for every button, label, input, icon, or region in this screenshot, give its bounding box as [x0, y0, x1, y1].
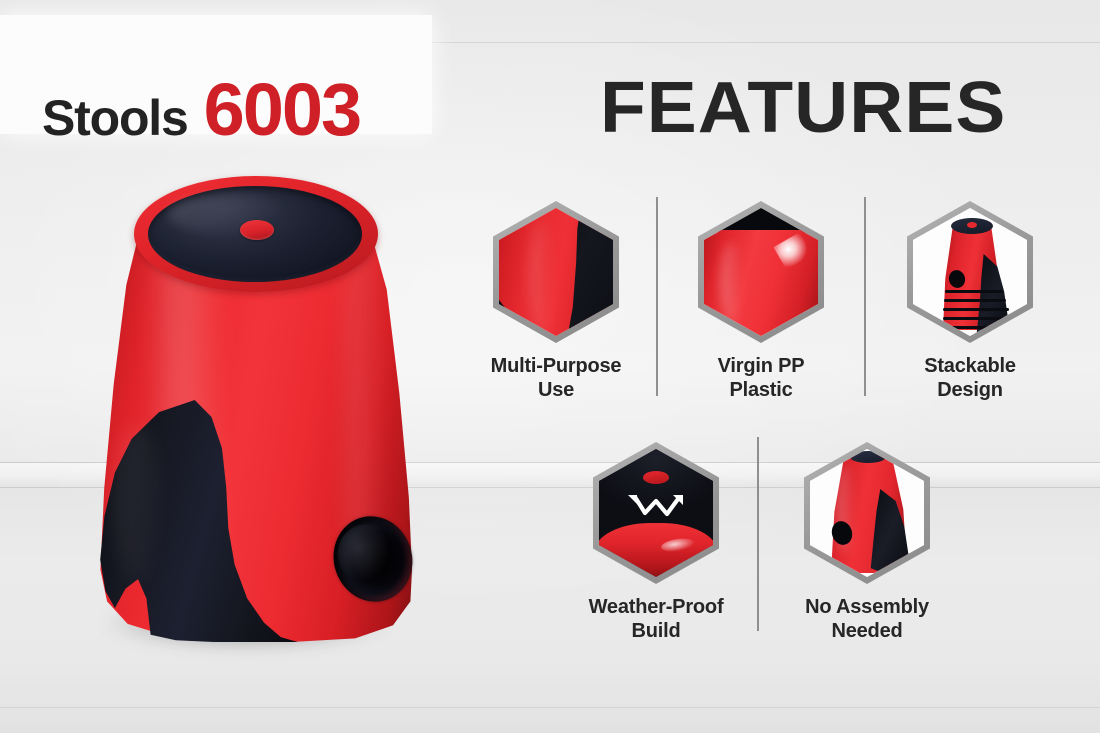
feature-label-line2: Needed	[782, 619, 952, 643]
feature-label-line2: Use	[471, 378, 641, 402]
feature-badge-stackable-design[interactable]: Stackable Design	[885, 201, 1055, 403]
title-banner: Stools 6003	[0, 15, 432, 134]
product-label: Stools	[42, 93, 188, 143]
features-heading: FEATURES	[600, 72, 954, 144]
weather-arrows-icon	[599, 449, 713, 577]
hexagon-frame	[698, 201, 824, 343]
stool-body-red-black-icon	[499, 208, 613, 336]
divider-bottom-1	[757, 437, 759, 631]
hexagon-frame	[804, 442, 930, 584]
feature-label-line1: No Assembly	[782, 595, 952, 619]
feature-label-line1: Weather-Proof	[571, 595, 741, 619]
stacked-stools-icon	[913, 208, 1027, 336]
feature-badge-no-assembly-needed[interactable]: No Assembly Needed	[782, 442, 952, 644]
feature-label-line1: Virgin PP	[676, 354, 846, 378]
hexagon-art	[810, 449, 924, 577]
feature-label: Multi-Purpose Use	[471, 354, 641, 403]
divider-top-1	[656, 197, 658, 396]
product-photo-stool	[62, 168, 442, 668]
hexagon-art	[499, 208, 613, 336]
feature-label: Stackable Design	[885, 354, 1055, 403]
glossy-red-plastic-block-icon	[704, 208, 818, 336]
hexagon-art	[913, 208, 1027, 336]
hexagon-frame	[907, 201, 1033, 343]
model-number: 6003	[204, 73, 361, 147]
hexagon-art	[599, 449, 713, 577]
zigzag-arrow-glyph	[625, 493, 687, 523]
page-title: Stools 6003	[42, 73, 360, 147]
hexagon-frame	[593, 442, 719, 584]
feature-label-line2: Design	[885, 378, 1055, 402]
divider-top-2	[864, 197, 866, 396]
feature-label-line1: Stackable	[885, 354, 1055, 378]
feature-label: Virgin PP Plastic	[676, 354, 846, 403]
feature-badge-weather-proof-build[interactable]: Weather-Proof Build	[571, 442, 741, 644]
hexagon-art	[704, 208, 818, 336]
feature-badge-multi-purpose-use[interactable]: Multi-Purpose Use	[471, 201, 641, 403]
feature-label-line2: Plastic	[676, 378, 846, 402]
feature-label-line1: Multi-Purpose	[471, 354, 641, 378]
feature-label-line2: Build	[571, 619, 741, 643]
floor-seam-line	[0, 707, 1100, 708]
feature-badge-virgin-pp-plastic[interactable]: Virgin PP Plastic	[676, 201, 846, 403]
stool-seat-center-dot	[240, 220, 274, 240]
feature-label: Weather-Proof Build	[571, 595, 741, 644]
hexagon-frame	[493, 201, 619, 343]
panel-highlight	[114, 424, 160, 584]
feature-label: No Assembly Needed	[782, 595, 952, 644]
single-stool-icon	[810, 449, 924, 577]
